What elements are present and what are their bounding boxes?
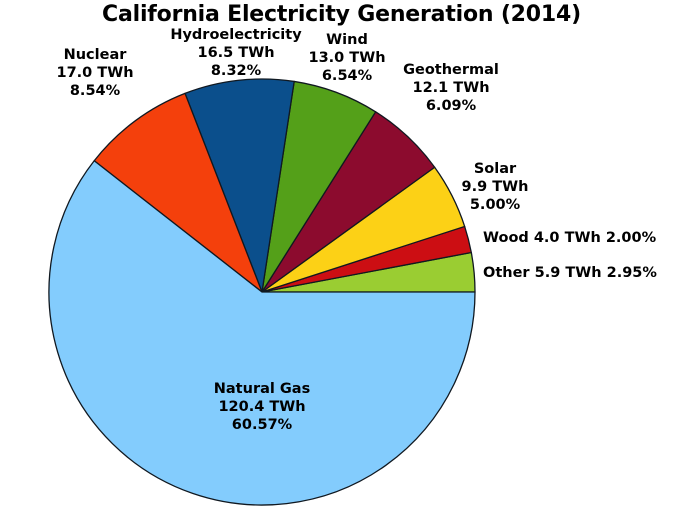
slice-label-geothermal-percent: 6.09% xyxy=(386,97,516,115)
slice-label-geothermal-value: 12.1 TWh xyxy=(386,79,516,97)
slice-label-natural-gas-name: Natural Gas xyxy=(167,380,357,398)
slice-label-solar-percent: 5.00% xyxy=(440,196,550,214)
slice-label-nuclear-name: Nuclear xyxy=(30,46,160,64)
slice-label-geothermal-name: Geothermal xyxy=(386,61,516,79)
slice-label-solar: Solar 9.9 TWh 5.00% xyxy=(440,160,550,214)
chart-page: California Electricity Generation (2014)… xyxy=(0,0,683,512)
slice-label-nuclear-value: 17.0 TWh xyxy=(30,64,160,82)
slice-label-nuclear-percent: 8.54% xyxy=(30,82,160,100)
slice-label-other-text: Other 5.9 TWh 2.95% xyxy=(483,264,657,282)
slice-label-other: Other 5.9 TWh 2.95% xyxy=(483,264,657,282)
slice-label-natural-gas: Natural Gas 120.4 TWh 60.57% xyxy=(167,380,357,434)
slice-label-natural-gas-value: 120.4 TWh xyxy=(167,398,357,416)
slice-label-natural-gas-percent: 60.57% xyxy=(167,416,357,434)
slice-label-geothermal: Geothermal 12.1 TWh 6.09% xyxy=(386,61,516,115)
slice-label-wood-text: Wood 4.0 TWh 2.00% xyxy=(483,229,656,247)
slice-label-wind-name: Wind xyxy=(292,31,402,49)
slice-label-solar-value: 9.9 TWh xyxy=(440,178,550,196)
slice-label-wood: Wood 4.0 TWh 2.00% xyxy=(483,229,656,247)
pie-slices-group xyxy=(49,79,475,505)
slice-label-solar-name: Solar xyxy=(440,160,550,178)
slice-label-nuclear: Nuclear 17.0 TWh 8.54% xyxy=(30,46,160,100)
